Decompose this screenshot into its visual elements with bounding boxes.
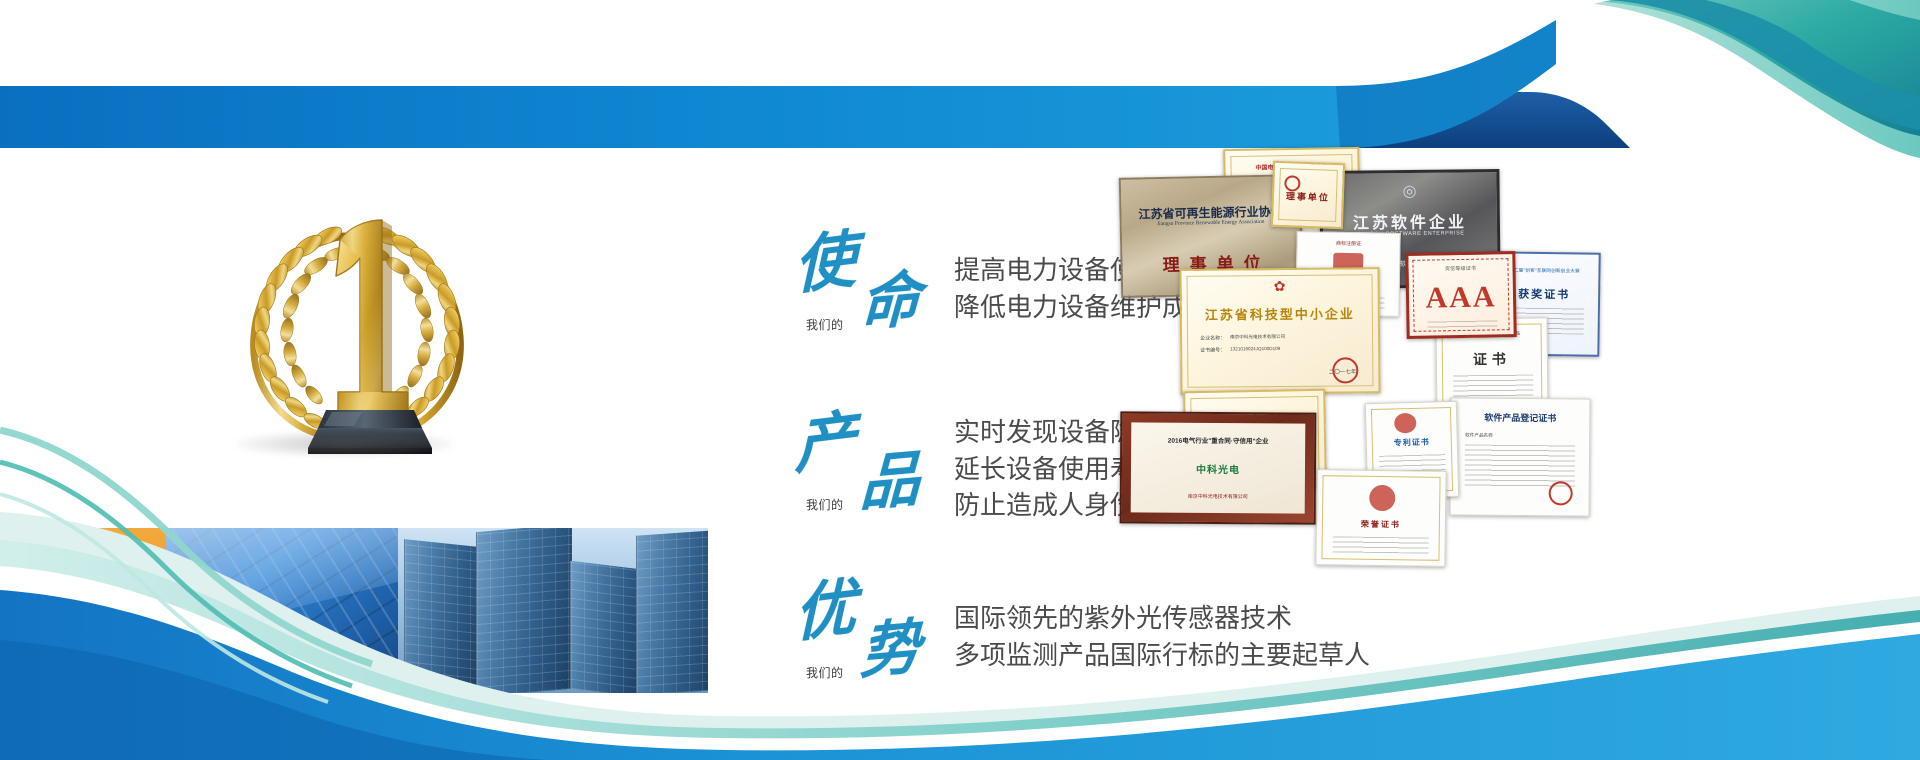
calligraphy-char-1: 优 <box>794 576 855 646</box>
cert-subtitle: 软件产品名称 <box>1465 433 1493 439</box>
cert-title: AAA <box>1409 280 1514 316</box>
cert-text-lines <box>1333 536 1429 553</box>
cert-seal <box>1332 357 1358 383</box>
calligraphy-char-2: 势 <box>859 617 919 682</box>
calligraphy-advantage: 优 势 我们的 <box>790 578 940 696</box>
cert-logo-text: 中科光电 <box>1131 460 1305 476</box>
trophy-shadow <box>237 431 452 457</box>
cert-subtitle: 资信等级证书 <box>1408 264 1512 273</box>
value-block-advantage: 优 势 我们的 国际领先的紫外光传感器技术 多项监测产品国际行标的主要起草人 <box>790 578 1350 696</box>
calligraphy-product: 产 品 我们的 <box>790 410 940 528</box>
cert-subtitle: 商标注册证 <box>1297 239 1399 248</box>
advantage-line-2: 多项监测产品国际行标的主要起草人 <box>954 637 1370 674</box>
cert-seal <box>1549 481 1573 505</box>
calligraphy-char-1: 产 <box>794 408 855 478</box>
cert-member-unit-plate[interactable]: 理事单位 <box>1271 161 1345 229</box>
cert-title: 理事单位 <box>1274 189 1342 204</box>
tower-1 <box>404 539 478 693</box>
calligraphy-prefix: 我们的 <box>806 496 844 513</box>
cert-title: 江苏省科技型中小企业 <box>1182 303 1378 324</box>
calligraphy-char-1: 使 <box>794 228 855 298</box>
calligraphy-char-2: 命 <box>859 269 919 334</box>
tower-4 <box>636 530 708 693</box>
advantage-line-1: 国际领先的紫外光传感器技术 <box>954 600 1370 637</box>
cert-footer: 南京中科光电技术有限公司 <box>1131 492 1305 500</box>
cert-company-value: 南京中科光电技术有限公司 <box>1230 334 1285 340</box>
calligraphy-char-2: 品 <box>859 449 919 514</box>
cert-title: 软件产品登记证书 <box>1451 410 1589 424</box>
advantage-lines: 国际领先的紫外光传感器技术 多项监测产品国际行标的主要起草人 <box>940 600 1370 674</box>
city-skyscraper-photo <box>398 528 708 693</box>
calligraphy-prefix: 我们的 <box>806 316 844 333</box>
solar-panel-photo <box>166 528 398 693</box>
cert-title: 证书 <box>1437 348 1547 369</box>
cert-number-value: 1321016024JQ100D109 <box>1230 346 1280 351</box>
trophy-illustration <box>232 196 482 456</box>
poster-canvas: 使 命 我们的 提高电力设备使用安全性 降低电力设备维护成本 产 品 我们的 实… <box>0 0 1920 760</box>
cert-credit-rating-aaa[interactable]: 资信等级证书 AAA <box>1405 251 1516 339</box>
calligraphy-prefix: 我们的 <box>806 664 844 681</box>
certificate-wall: 中国电力工业协会会员证书 单位名称 江苏省可再生能源行业协会 Jiangsu P… <box>1120 140 1600 560</box>
laurel-left <box>252 223 349 434</box>
orange-color-block <box>88 528 166 693</box>
cert-software-product-registration[interactable]: 软件产品登记证书 软件产品名称 <box>1449 397 1590 516</box>
cert-number-label: 证书编号： <box>1200 346 1225 353</box>
cert-company-label: 企业名称： <box>1200 334 1225 341</box>
tower-3 <box>570 561 640 693</box>
cert-title: 2016电气行业"重合同·守信用"企业 <box>1131 434 1305 445</box>
cert-red-emblem <box>1369 485 1395 511</box>
calligraphy-mission: 使 命 我们的 <box>790 230 940 348</box>
cert-text-lines <box>1427 320 1497 331</box>
cert-jiangsu-scitech-sme[interactable]: ✿ 江苏省科技型中小企业 企业名称： 南京中科光电技术有限公司 证书编号： 13… <box>1179 267 1380 395</box>
plaque-inner: 2016电气行业"重合同·守信用"企业 中科光电 南京中科光电技术有限公司 <box>1131 422 1306 513</box>
cert-title: 专利证书 <box>1367 436 1457 449</box>
photo-strip <box>88 528 708 693</box>
cert-red-stamp <box>1394 413 1417 434</box>
trophy-svg <box>232 196 482 456</box>
cert-title: 荣誉证书 <box>1317 518 1445 531</box>
software-logo-icon: ◎ <box>1323 180 1497 202</box>
cert-honor-certificate-national[interactable]: 荣誉证书 <box>1315 469 1446 567</box>
zkopt-emblem-icon: ✿ <box>1182 277 1378 296</box>
cert-electrical-industry-2016[interactable]: 2016电气行业"重合同·守信用"企业 中科光电 南京中科光电技术有限公司 <box>1120 411 1317 524</box>
tower-2 <box>476 528 572 693</box>
